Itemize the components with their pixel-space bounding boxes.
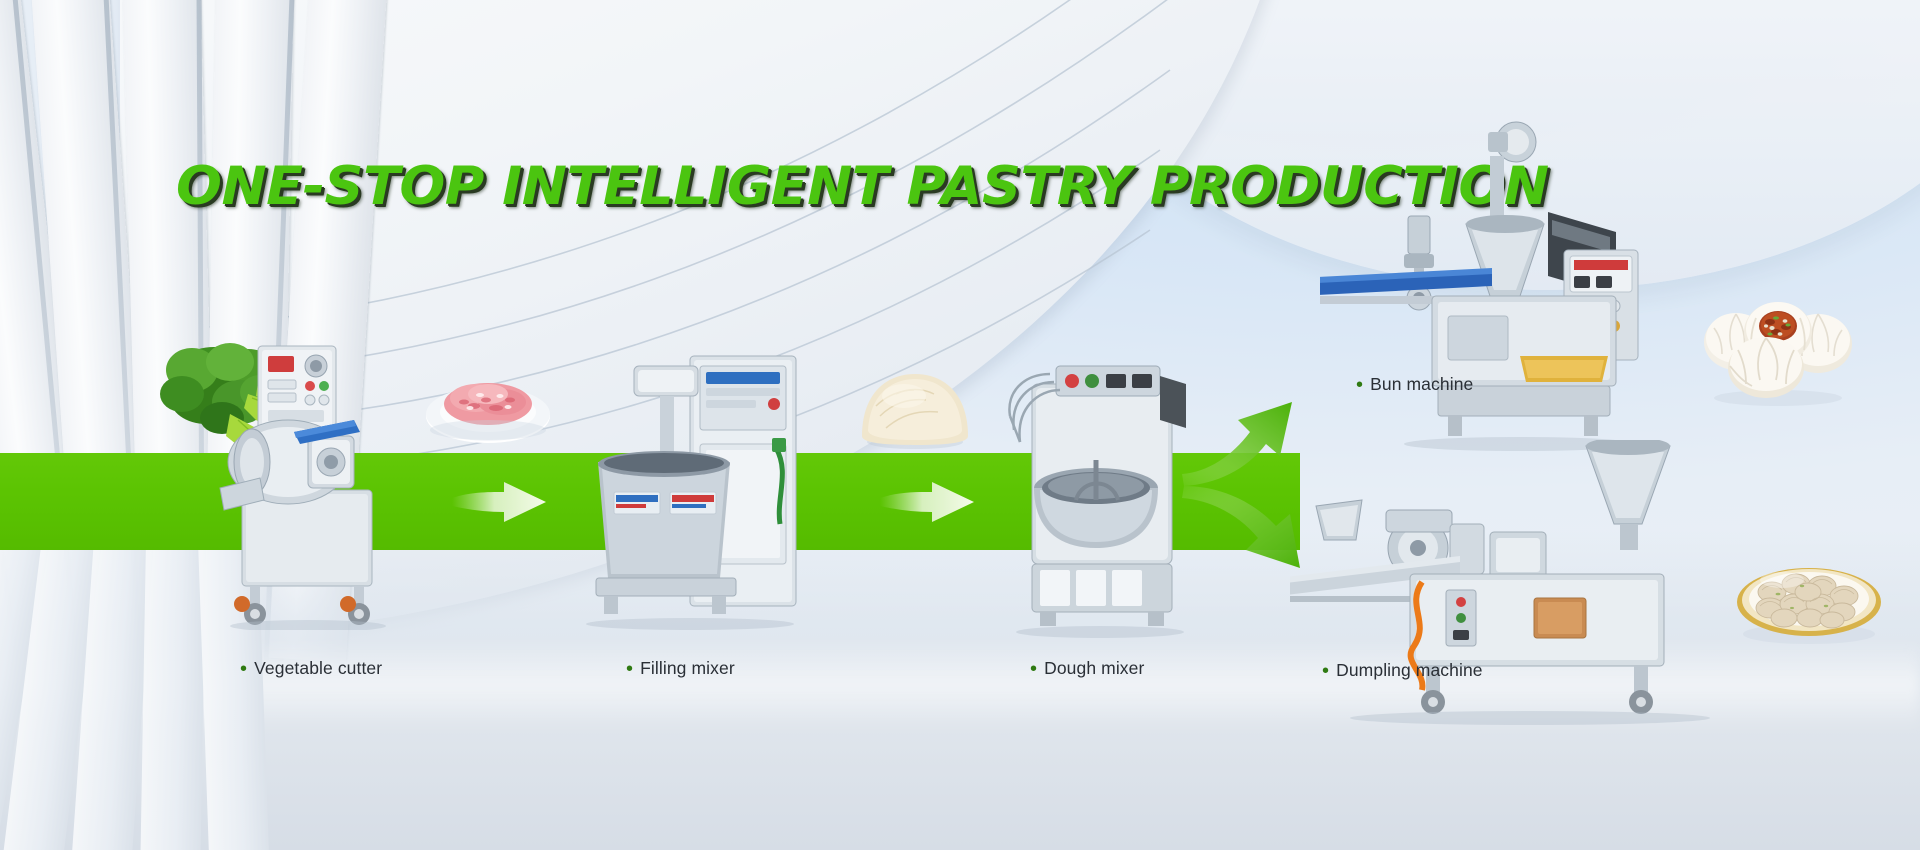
label-vegetable-cutter: •Vegetable cutter — [240, 658, 382, 679]
machine-vegetable-cutter — [198, 340, 420, 630]
promotional-banner: ONE-STOP INTELLIGENT PASTRY PRODUCTION — [0, 0, 1920, 850]
bullet-icon: • — [240, 658, 247, 680]
label-bun-machine: •Bun machine — [1356, 374, 1473, 395]
dough-ball-image — [856, 366, 974, 450]
conveyor-arrow-2 — [880, 480, 976, 524]
steamed-buns-image — [1700, 292, 1856, 408]
label-filling-mixer: •Filling mixer — [626, 658, 735, 679]
bullet-icon: • — [1030, 658, 1037, 680]
bullet-icon: • — [626, 658, 633, 680]
machine-dumpling-machine — [1290, 440, 1740, 730]
machine-filling-mixer — [580, 352, 806, 632]
machine-bun-machine — [1320, 120, 1670, 460]
conveyor-arrow-1 — [452, 480, 548, 524]
label-dough-mixer: •Dough mixer — [1030, 658, 1144, 679]
minced-meat-plate-image — [424, 362, 552, 446]
bullet-icon: • — [1322, 660, 1329, 682]
bullet-icon: • — [1356, 374, 1363, 396]
dumplings-plate-image — [1734, 546, 1884, 650]
label-dumpling-machine: •Dumpling machine — [1322, 660, 1483, 681]
machine-dough-mixer — [1000, 350, 1200, 640]
